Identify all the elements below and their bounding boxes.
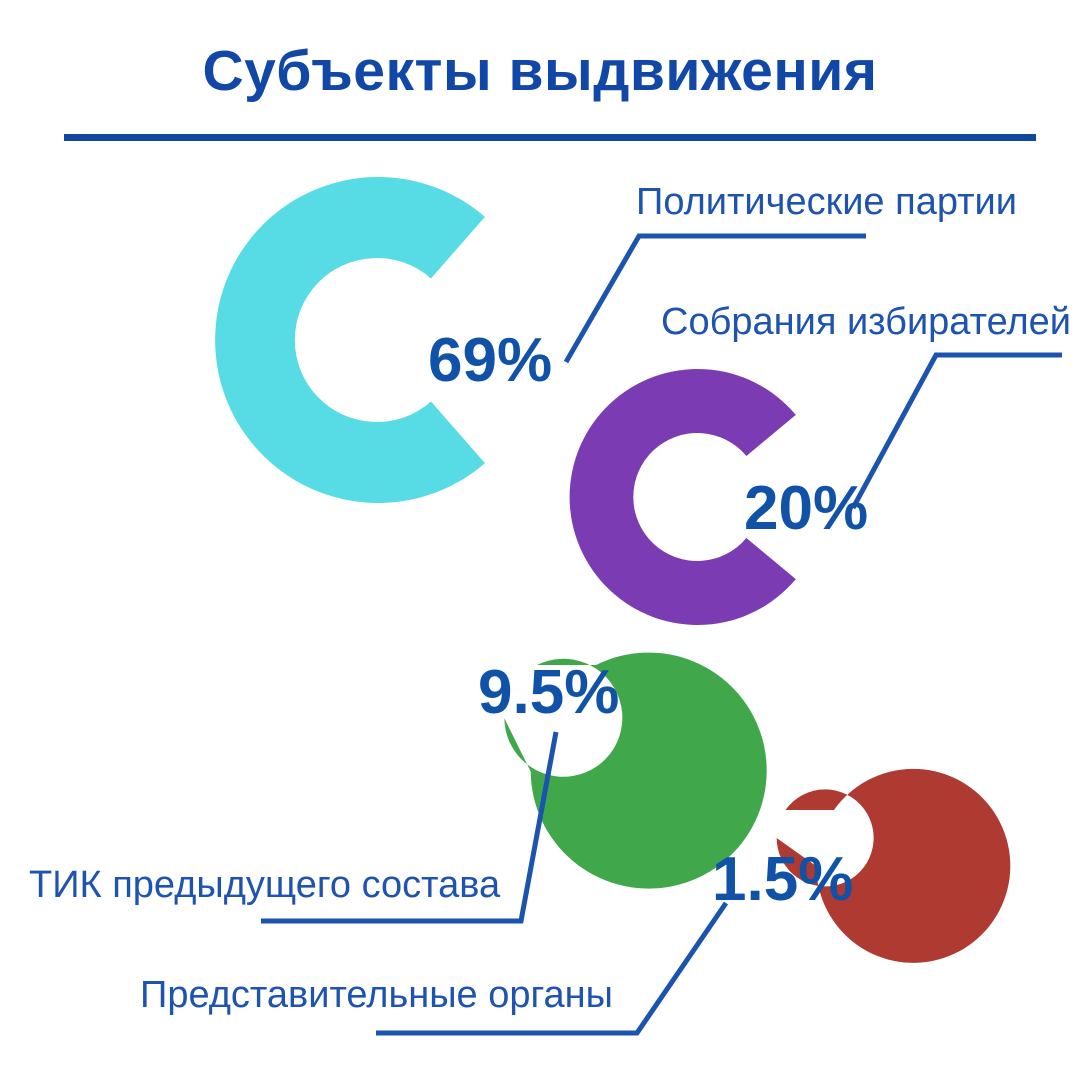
label-representative-bodies: Представительные органы: [140, 976, 613, 1014]
label-voter-assemblies: Собрания избирателей: [661, 303, 1071, 341]
value-previous-tik: 9.5%: [478, 662, 619, 724]
donut-chart-graphics: [0, 0, 1080, 1080]
value-representative-bodies: 1.5%: [712, 849, 853, 911]
leader-line-political-parties: [566, 236, 866, 362]
value-voter-assemblies: 20%: [744, 478, 868, 540]
value-political-parties: 69%: [428, 330, 552, 392]
leader-line-voter-assemblies: [853, 355, 1062, 508]
infographic-canvas: Субъекты выдвижения 69%: [0, 0, 1080, 1080]
label-previous-tik: ТИК предыдущего состава: [29, 866, 500, 904]
label-political-parties: Политические партии: [636, 183, 1017, 221]
